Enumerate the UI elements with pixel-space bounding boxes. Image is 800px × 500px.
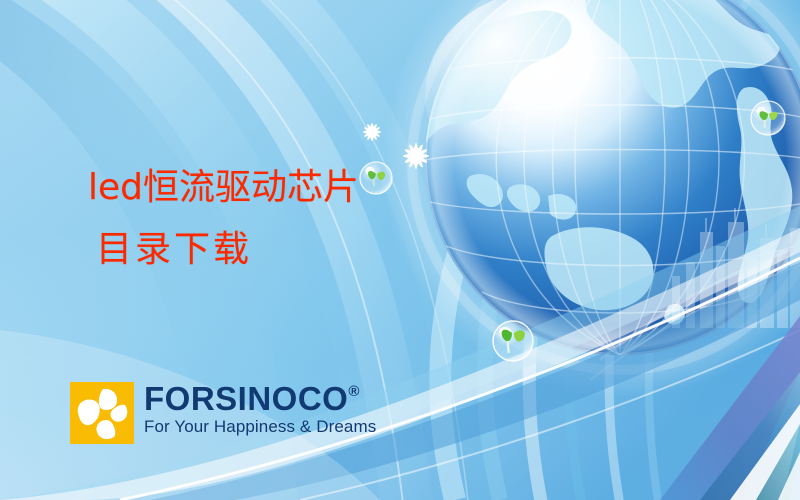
pinwheel-icon bbox=[70, 382, 134, 444]
brand-name-text: FORSINOCO bbox=[144, 382, 348, 416]
registered-trademark-icon: ® bbox=[348, 384, 360, 399]
bubble-upper-right bbox=[751, 101, 785, 135]
bubble-lower bbox=[493, 321, 533, 361]
headline-line-2: 目录下载 bbox=[96, 232, 252, 268]
banner-image: led恒流驱动芯片 目录下载 FORSINOCO® bbox=[0, 0, 800, 500]
brand-tagline: For Your Happiness & Dreams bbox=[144, 417, 376, 436]
forsinoco-logo-mark bbox=[70, 382, 134, 444]
headline-line-1: led恒流驱动芯片 bbox=[88, 170, 359, 206]
bubble-left bbox=[360, 162, 392, 194]
brand-lockup: FORSINOCO® For Your Happiness & Dreams bbox=[70, 382, 376, 444]
brand-name: FORSINOCO® bbox=[144, 382, 376, 416]
